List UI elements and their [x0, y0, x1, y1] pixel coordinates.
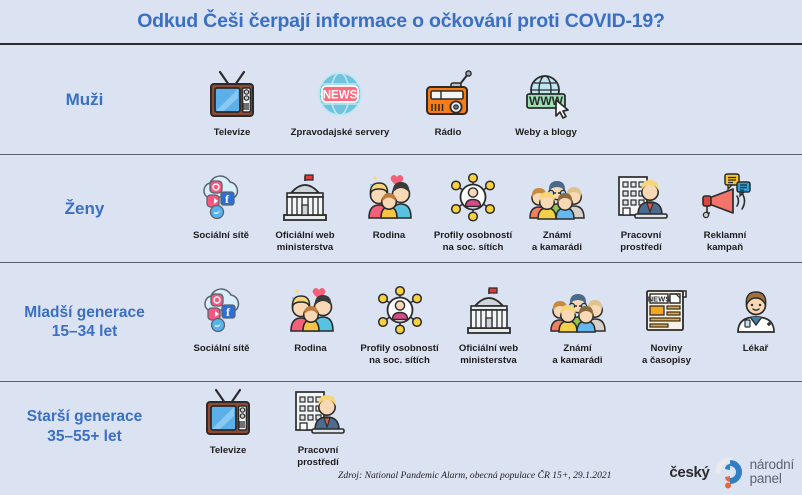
- row-label-zeny: Ženy: [0, 198, 175, 219]
- item-label: Noviny a časopisy: [642, 343, 691, 366]
- source-note: Zdroj: National Pandemic Alarm, obecná p…: [338, 470, 611, 481]
- item-label: Lékař: [743, 343, 769, 355]
- item-pracovni-prostredi[interactable]: Pracovní prostředí: [599, 168, 683, 253]
- item-lekar[interactable]: Lékař: [711, 281, 800, 355]
- item-rodina[interactable]: Rodina: [266, 281, 355, 355]
- logo-brand-primary: český: [669, 464, 709, 481]
- item-label: Známí a kamarádi: [532, 230, 582, 253]
- swirl-logo-icon: [713, 455, 747, 489]
- influencer-network-icon: [446, 168, 500, 226]
- item-label: Profily osobností na soc. sítích: [360, 343, 438, 366]
- logo-brand-secondary: národní panel: [750, 458, 794, 486]
- row-label-muzi: Muži: [0, 89, 175, 110]
- item-label: Sociální sítě: [194, 343, 250, 355]
- item-label: Rodina: [294, 343, 327, 355]
- item-radio[interactable]: Rádio: [399, 65, 497, 139]
- government-building-icon: [462, 281, 516, 339]
- family-icon: [361, 168, 417, 226]
- page-title: Odkud Češi čerpají informace o očkování …: [137, 10, 665, 33]
- logo-brand-line1: národní: [750, 458, 794, 472]
- svg-text:NEWS: NEWS: [647, 295, 670, 304]
- row-items-mladsi-generace: f Sociální sítě: [175, 277, 802, 366]
- social-media-cloud-icon: f: [194, 281, 250, 339]
- item-label: Zpravodajské servery: [291, 127, 390, 139]
- item-socialni-site[interactable]: f Sociální sítě: [177, 281, 266, 355]
- item-label: Televize: [214, 127, 251, 139]
- logo-brand-line2: panel: [750, 472, 794, 486]
- item-label: Pracovní prostředí: [620, 230, 662, 253]
- item-reklamni-kampan[interactable]: Reklamní kampaň: [683, 168, 767, 253]
- footer: Zdroj: National Pandemic Alarm, obecná p…: [0, 455, 802, 495]
- item-televize[interactable]: Televize: [183, 65, 281, 139]
- item-televize[interactable]: Televize: [183, 383, 273, 457]
- item-socialni-site[interactable]: f Sociální sítě: [179, 168, 263, 242]
- social-media-cloud-icon: f: [193, 168, 249, 226]
- logo-cesky-narodni-panel: český národní panel: [669, 455, 794, 489]
- item-label: Sociální sítě: [193, 230, 249, 242]
- friends-group-icon: [528, 168, 586, 226]
- item-znami-a-kamaradi[interactable]: Známí a kamarádi: [515, 168, 599, 253]
- row-mladsi-generace: Mladší generace 15–34 let f: [0, 263, 802, 382]
- television-icon: [204, 65, 260, 123]
- item-weby-a-blogy[interactable]: WWW Weby a blogy: [497, 65, 595, 139]
- item-rodina[interactable]: Rodina: [347, 168, 431, 242]
- doctor-icon: [729, 281, 783, 339]
- item-profily-osobnosti[interactable]: Profily osobností na soc. sítích: [355, 281, 444, 366]
- row-label-mladsi-generace: Mladší generace 15–34 let: [0, 303, 175, 342]
- item-profily-osobnosti[interactable]: Profily osobností na soc. sítích: [431, 168, 515, 253]
- radio-icon: [421, 65, 475, 123]
- item-label: Reklamní kampaň: [704, 230, 747, 253]
- item-znami-a-kamaradi[interactable]: Známí a kamarádi: [533, 281, 622, 366]
- item-label: Rádio: [435, 127, 462, 139]
- workplace-icon: [290, 383, 346, 441]
- row-items-zeny: f Sociální sítě: [175, 164, 802, 253]
- row-items-muzi: Televize NEWS Zpravodajské servery: [175, 61, 802, 139]
- item-noviny-a-casopisy[interactable]: NEWS Noviny a časopisy: [622, 281, 711, 366]
- news-globe-icon: NEWS: [313, 65, 367, 123]
- family-icon: [283, 281, 339, 339]
- item-label: Weby a blogy: [515, 127, 577, 139]
- government-building-icon: [278, 168, 332, 226]
- infographic-page: Odkud Češi čerpají informace o očkování …: [0, 0, 802, 495]
- item-oficialni-web-ministerstva[interactable]: Oficiální web ministerstva: [263, 168, 347, 253]
- row-zeny: Ženy f Sociální sítě: [0, 155, 802, 263]
- item-label: Oficiální web ministerstva: [275, 230, 334, 253]
- item-label: Profily osobností na soc. sítích: [434, 230, 512, 253]
- newspaper-icon: NEWS: [640, 281, 694, 339]
- item-label: Rodina: [373, 230, 406, 242]
- megaphone-icon: [697, 168, 753, 226]
- item-label: Známí a kamarádi: [552, 343, 602, 366]
- workplace-icon: [613, 168, 669, 226]
- item-label: Oficiální web ministerstva: [459, 343, 518, 366]
- item-oficialni-web-ministerstva[interactable]: Oficiální web ministerstva: [444, 281, 533, 366]
- item-zpravodajske-servery[interactable]: NEWS Zpravodajské servery: [281, 65, 399, 139]
- row-muzi: Muži Televize: [0, 45, 802, 155]
- svg-text:NEWS: NEWS: [323, 89, 358, 101]
- www-cursor-icon: WWW: [519, 65, 573, 123]
- television-icon: [200, 383, 256, 441]
- title-bar: Odkud Češi čerpají informace o očkování …: [0, 0, 802, 45]
- influencer-network-icon: [373, 281, 427, 339]
- friends-group-icon: [549, 281, 607, 339]
